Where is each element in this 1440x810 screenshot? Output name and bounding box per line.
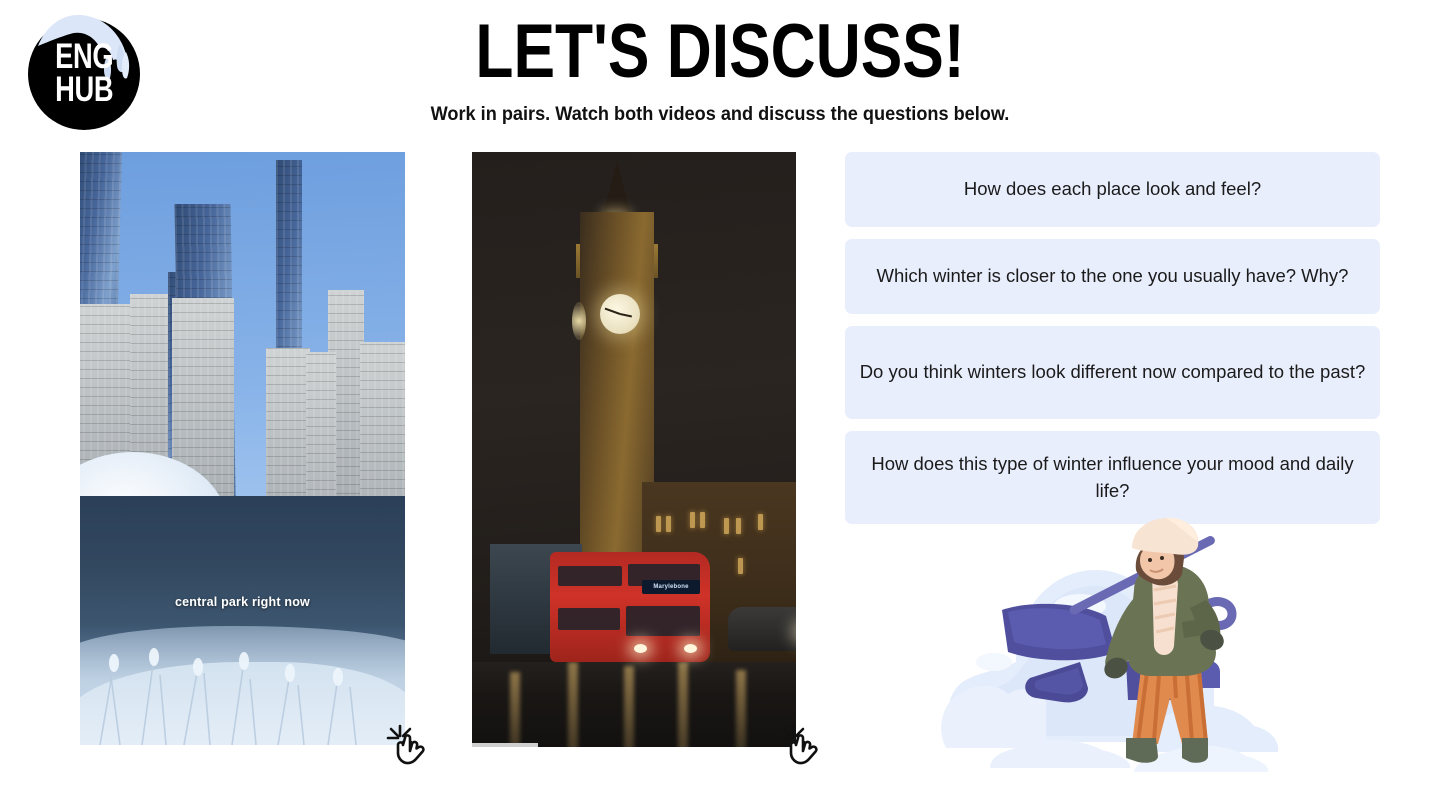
page-subtitle: Work in pairs. Watch both videos and dis… <box>50 103 1389 126</box>
logo-line-2: HUB <box>55 74 113 107</box>
discussion-questions-list: How does each place look and feel? Which… <box>845 152 1380 536</box>
video-thumbnail-london[interactable]: Marylebone <box>472 152 796 747</box>
logo-wordmark: ENG HUB <box>28 18 140 130</box>
boot <box>1182 738 1208 763</box>
clock-minute-hand <box>605 308 621 315</box>
boot <box>1126 738 1158 763</box>
video-progress-bar <box>472 743 538 747</box>
video-thumbnail-central-park[interactable]: central park right now <box>80 152 405 745</box>
click-cursor-icon <box>775 720 837 782</box>
question-item[interactable]: How does each place look and feel? <box>845 152 1380 227</box>
double-decker-bus: Marylebone <box>550 552 710 662</box>
car <box>728 607 796 651</box>
big-ben-clock-face <box>600 294 640 334</box>
question-item[interactable]: Do you think winters look different now … <box>845 326 1380 419</box>
person-shoveling-snow-illustration <box>920 512 1302 797</box>
eye <box>1148 558 1152 562</box>
slide-root: ENG HUB LET'S DISCUSS! Work in pairs. Wa… <box>0 0 1440 810</box>
bus-headlight <box>684 644 697 653</box>
bus-destination-sign: Marylebone <box>642 580 700 594</box>
nyc-reeds <box>80 615 405 745</box>
question-text: How does each place look and feel? <box>964 176 1261 202</box>
question-text: Which winter is closer to the one you us… <box>877 263 1349 289</box>
eye <box>1160 556 1164 560</box>
click-cursor-icon <box>382 720 444 782</box>
brand-logo: ENG HUB <box>16 8 138 130</box>
question-text: How does this type of winter influence y… <box>859 451 1366 504</box>
video-caption-central-park: central park right now <box>80 595 405 609</box>
page-title: LET'S DISCUSS! <box>130 14 1311 90</box>
question-text: Do you think winters look different now … <box>860 359 1366 385</box>
question-item[interactable]: How does this type of winter influence y… <box>845 431 1380 524</box>
beanie <box>1132 518 1198 555</box>
clock-hour-hand <box>620 313 632 318</box>
bus-headlight <box>634 644 647 653</box>
question-item[interactable]: Which winter is closer to the one you us… <box>845 239 1380 314</box>
big-ben-clock-side <box>572 302 586 340</box>
wet-road <box>472 662 796 747</box>
